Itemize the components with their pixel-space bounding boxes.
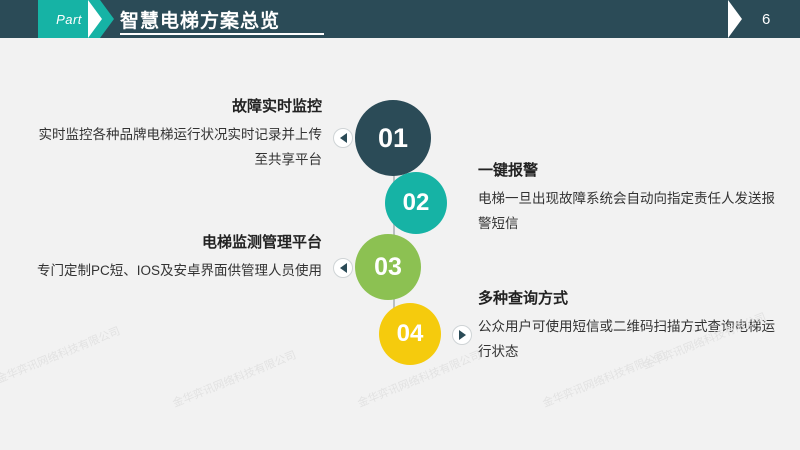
arrow-left-icon-03: [333, 258, 353, 278]
step-circle-04[interactable]: 04: [379, 303, 441, 365]
step-title-03: 电梯监测管理平台: [30, 232, 322, 254]
header-part-label: Part: [56, 12, 82, 27]
header-right-chevron-dark-icon: [742, 0, 756, 38]
header-right-chevron-white-icon: [728, 0, 742, 38]
watermark: 金华弈讯网络科技有限公司: [0, 323, 122, 387]
header-chevron-teal-icon: [100, 0, 114, 38]
header-chevron-white-icon: [88, 0, 102, 38]
step-text-03: 电梯监测管理平台 专门定制PC短、IOS及安卓界面供管理人员使用: [30, 232, 322, 283]
step-circle-01[interactable]: 01: [355, 100, 431, 176]
step-text-04: 多种查询方式 公众用户可使用短信或二维码扫描方式查询电梯运行状态: [478, 288, 778, 364]
step-circle-03[interactable]: 03: [355, 234, 421, 300]
step-body-02: 电梯一旦出现故障系统会自动向指定责任人发送报警短信: [478, 186, 778, 236]
step-title-04: 多种查询方式: [478, 288, 778, 310]
title-underline: [120, 33, 324, 35]
step-body-01: 实时监控各种品牌电梯运行状况实时记录并上传至共享平台: [30, 122, 322, 172]
step-body-03: 专门定制PC短、IOS及安卓界面供管理人员使用: [30, 258, 322, 283]
step-circle-02[interactable]: 02: [385, 172, 447, 234]
page-number: 6: [762, 0, 770, 38]
step-title-01: 故障实时监控: [30, 96, 322, 118]
arrow-left-icon-01: [333, 128, 353, 148]
arrow-right-icon-04: [452, 325, 472, 345]
step-text-01: 故障实时监控 实时监控各种品牌电梯运行状况实时记录并上传至共享平台: [30, 96, 322, 172]
watermark: 金华弈讯网络科技有限公司: [170, 347, 298, 411]
step-body-04: 公众用户可使用短信或二维码扫描方式查询电梯运行状态: [478, 314, 778, 364]
step-title-02: 一键报警: [478, 160, 778, 182]
step-text-02: 一键报警 电梯一旦出现故障系统会自动向指定责任人发送报警短信: [478, 160, 778, 236]
slide-header: Part 智慧电梯方案总览 6: [0, 0, 800, 38]
